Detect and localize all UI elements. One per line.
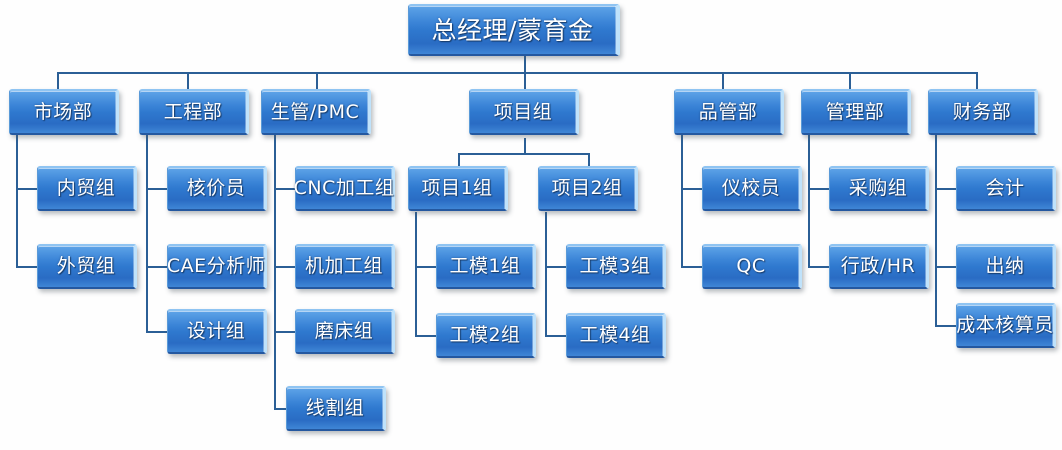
connector-rail-pmc bbox=[274, 135, 276, 410]
connector-stub-waimao bbox=[16, 266, 38, 268]
connector-stub-gm2 bbox=[415, 335, 437, 337]
connector-root-stem bbox=[524, 55, 526, 73]
node-machining[interactable]: 机加工组 bbox=[295, 244, 395, 289]
node-label: 市场部 bbox=[34, 103, 93, 122]
node-label: CAE分析师 bbox=[167, 257, 265, 276]
node-label: 内贸组 bbox=[57, 179, 116, 198]
node-calibration-officer[interactable]: 仪校员 bbox=[702, 166, 802, 211]
node-label: 财务部 bbox=[953, 103, 1012, 122]
connector-stub-gm1 bbox=[415, 266, 437, 268]
connector-stub-gm4 bbox=[545, 335, 567, 337]
connector-stub-chuna bbox=[935, 266, 957, 268]
node-mold-team-2[interactable]: 工模2组 bbox=[436, 313, 536, 358]
connector-stub-hejia bbox=[146, 188, 168, 190]
connector-stub-mochuang bbox=[274, 331, 296, 333]
node-domestic-trade[interactable]: 内贸组 bbox=[37, 166, 137, 211]
node-dept-finance[interactable]: 财务部 bbox=[928, 89, 1038, 135]
connector-stub-qc bbox=[681, 266, 703, 268]
node-label: 总经理/蒙育金 bbox=[432, 18, 594, 43]
node-label: 项目组 bbox=[494, 103, 553, 122]
node-label: 工程部 bbox=[164, 103, 223, 122]
node-mold-team-1[interactable]: 工模1组 bbox=[436, 244, 536, 289]
node-label: 外贸组 bbox=[57, 257, 116, 276]
node-label: 行政/HR bbox=[841, 257, 915, 276]
node-label: 采购组 bbox=[849, 179, 908, 198]
node-label: 项目1组 bbox=[421, 179, 492, 198]
connector-stub-kuaiji bbox=[935, 188, 957, 190]
node-dept-quality[interactable]: 品管部 bbox=[674, 89, 784, 135]
connector-stub-gm3 bbox=[545, 266, 567, 268]
node-dept-market[interactable]: 市场部 bbox=[9, 89, 119, 135]
node-label: 生管/PMC bbox=[271, 103, 360, 122]
node-dept-pmc[interactable]: 生管/PMC bbox=[261, 89, 371, 135]
connector-rail-guanli bbox=[808, 135, 810, 268]
node-dept-project[interactable]: 项目组 bbox=[469, 89, 579, 135]
connector-stub-cnc bbox=[274, 188, 296, 190]
node-project-team-2[interactable]: 项目2组 bbox=[538, 166, 638, 211]
connector-stub-hr bbox=[808, 266, 830, 268]
node-cae-analyst[interactable]: CAE分析师 bbox=[167, 244, 267, 289]
node-label: 工模1组 bbox=[449, 257, 520, 276]
node-label: CNC加工组 bbox=[294, 179, 395, 198]
node-purchasing[interactable]: 采购组 bbox=[829, 166, 929, 211]
node-label: 仪校员 bbox=[722, 179, 781, 198]
node-label: 工模2组 bbox=[449, 326, 520, 345]
node-pricing-officer[interactable]: 核价员 bbox=[167, 166, 267, 211]
org-chart: 总经理/蒙育金 市场部 工程部 生管/PMC 项目组 品管部 管理部 财务部 内… bbox=[0, 0, 1062, 450]
node-cashier[interactable]: 出纳 bbox=[956, 244, 1056, 289]
node-hr[interactable]: 行政/HR bbox=[829, 244, 929, 289]
node-root-general-manager[interactable]: 总经理/蒙育金 bbox=[408, 4, 620, 56]
node-label: 机加工组 bbox=[305, 257, 383, 276]
connector-stub-yixiao bbox=[681, 188, 703, 190]
node-label: 设计组 bbox=[187, 322, 246, 341]
connector-xiangmu-stem bbox=[524, 138, 526, 154]
connector-rail-pinguan bbox=[681, 135, 683, 268]
node-label: 管理部 bbox=[826, 103, 885, 122]
node-mold-team-4[interactable]: 工模4组 bbox=[566, 313, 666, 358]
connector-rail-xm1 bbox=[415, 212, 417, 337]
node-label: 成本核算员 bbox=[956, 316, 1054, 335]
node-accounting[interactable]: 会计 bbox=[956, 166, 1056, 211]
node-label: 线割组 bbox=[306, 399, 365, 418]
node-label: 工模3组 bbox=[579, 257, 650, 276]
node-label: 会计 bbox=[985, 179, 1024, 198]
connector-rail-caiwu bbox=[935, 135, 937, 327]
node-dept-admin[interactable]: 管理部 bbox=[801, 89, 911, 135]
node-label: QC bbox=[736, 257, 765, 276]
node-cnc-machining[interactable]: CNC加工组 bbox=[295, 166, 395, 211]
connector-stub-neimao bbox=[16, 188, 38, 190]
node-grinding[interactable]: 磨床组 bbox=[295, 309, 395, 354]
connector-rail-shichang bbox=[16, 135, 18, 268]
connector-stub-caigou bbox=[808, 188, 830, 190]
node-label: 项目2组 bbox=[551, 179, 622, 198]
connector-stub-sheji bbox=[146, 331, 168, 333]
node-label: 工模4组 bbox=[579, 326, 650, 345]
connector-stub-chengben bbox=[935, 325, 957, 327]
connector-stub-cae bbox=[146, 266, 168, 268]
connector-stub-jijia bbox=[274, 266, 296, 268]
connector-rail-gongcheng bbox=[146, 135, 148, 333]
node-project-team-1[interactable]: 项目1组 bbox=[408, 166, 508, 211]
node-cost-accountant[interactable]: 成本核算员 bbox=[956, 303, 1056, 348]
node-wire-cutting[interactable]: 线割组 bbox=[286, 386, 386, 431]
node-label: 出纳 bbox=[985, 257, 1024, 276]
node-qc[interactable]: QC bbox=[702, 244, 802, 289]
node-label: 磨床组 bbox=[315, 322, 374, 341]
connector-rail-xm2 bbox=[545, 212, 547, 337]
connector-xiangmu-bar bbox=[458, 153, 590, 155]
node-foreign-trade[interactable]: 外贸组 bbox=[37, 244, 137, 289]
node-design-team[interactable]: 设计组 bbox=[167, 309, 267, 354]
node-label: 核价员 bbox=[187, 179, 246, 198]
node-mold-team-3[interactable]: 工模3组 bbox=[566, 244, 666, 289]
node-label: 品管部 bbox=[699, 103, 758, 122]
node-dept-engineering[interactable]: 工程部 bbox=[139, 89, 249, 135]
connector-main-bus bbox=[57, 72, 977, 74]
